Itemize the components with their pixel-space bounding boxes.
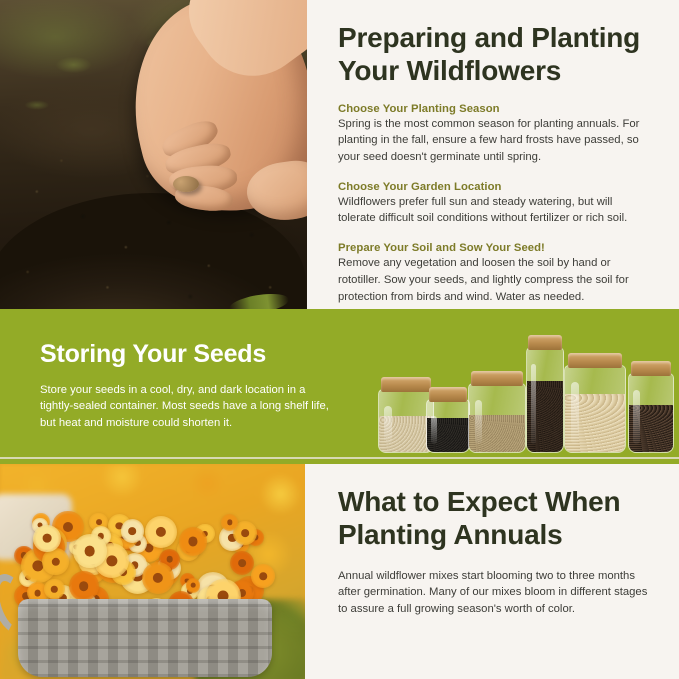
forearm: [170, 0, 307, 98]
flower-bloom: [142, 562, 174, 594]
flower-bloom: [251, 564, 275, 588]
flower-bloom: [221, 514, 238, 531]
seed-jars-photo: [378, 327, 668, 453]
jar-pumpkin-seeds: [564, 353, 626, 453]
planting-seeds-photo: [0, 0, 307, 309]
subhead-prepare-soil: Prepare Your Soil and Sow Your Seed!: [338, 242, 653, 254]
flower-bloom: [230, 551, 254, 575]
subhead-planting-season: Choose Your Planting Season: [338, 103, 653, 115]
planting-text-panel: Preparing and Planting Your Wildflowers …: [307, 0, 679, 309]
section-storing-your-seeds: Storing Your Seeds Store your seeds in a…: [0, 309, 679, 464]
flower-bloom: [179, 527, 207, 555]
flower-bloom: [73, 534, 107, 568]
cork-lid-icon: [568, 353, 623, 368]
storing-heading: Storing Your Seeds: [40, 341, 340, 369]
infographic-page: Preparing and Planting Your Wildflowers …: [0, 0, 679, 679]
flower-bloom: [186, 578, 201, 593]
body-garden-location: Wildflowers prefer full sun and steady w…: [338, 194, 653, 227]
wicker-basket: [18, 599, 272, 677]
cork-lid-icon: [471, 371, 522, 386]
section-what-to-expect: What to Expect When Planting Annuals Ann…: [0, 464, 679, 679]
cork-lid-icon: [429, 387, 468, 402]
jar-tan-grain: [468, 371, 526, 453]
body-planting-season: Spring is the most common season for pla…: [338, 116, 653, 166]
cork-lid-icon: [381, 377, 430, 392]
body-prepare-soil: Remove any vegetation and loosen the soi…: [338, 255, 653, 305]
flower-bloom: [145, 516, 177, 548]
storing-body: Store your seeds in a cool, dry, and dar…: [40, 382, 340, 433]
flower-bloom: [33, 525, 60, 552]
cork-lid-icon: [528, 335, 561, 350]
flower-bloom: [42, 548, 68, 574]
flower-bloom: [44, 579, 64, 599]
subhead-garden-location: Choose Your Garden Location: [338, 181, 653, 193]
jar-tall-dark-seeds: [526, 335, 564, 453]
expect-heading: What to Expect When Planting Annuals: [338, 486, 655, 552]
seeds-in-hand: [173, 176, 199, 192]
expect-text-panel: What to Expect When Planting Annuals Ann…: [305, 464, 679, 679]
cork-lid-icon: [631, 361, 672, 376]
band-divider: [0, 457, 679, 459]
jar-sunflower-seeds: [628, 361, 674, 453]
flower-basket-photo: [0, 464, 305, 679]
expect-body: Annual wildflower mixes start blooming t…: [338, 568, 655, 618]
section-preparing-and-planting: Preparing and Planting Your Wildflowers …: [0, 0, 679, 309]
storing-text-panel: Storing Your Seeds Store your seeds in a…: [40, 341, 340, 432]
flower-bloom: [69, 571, 99, 601]
page-title: Preparing and Planting Your Wildflowers: [338, 22, 653, 88]
jar-black-seeds: [426, 387, 470, 453]
